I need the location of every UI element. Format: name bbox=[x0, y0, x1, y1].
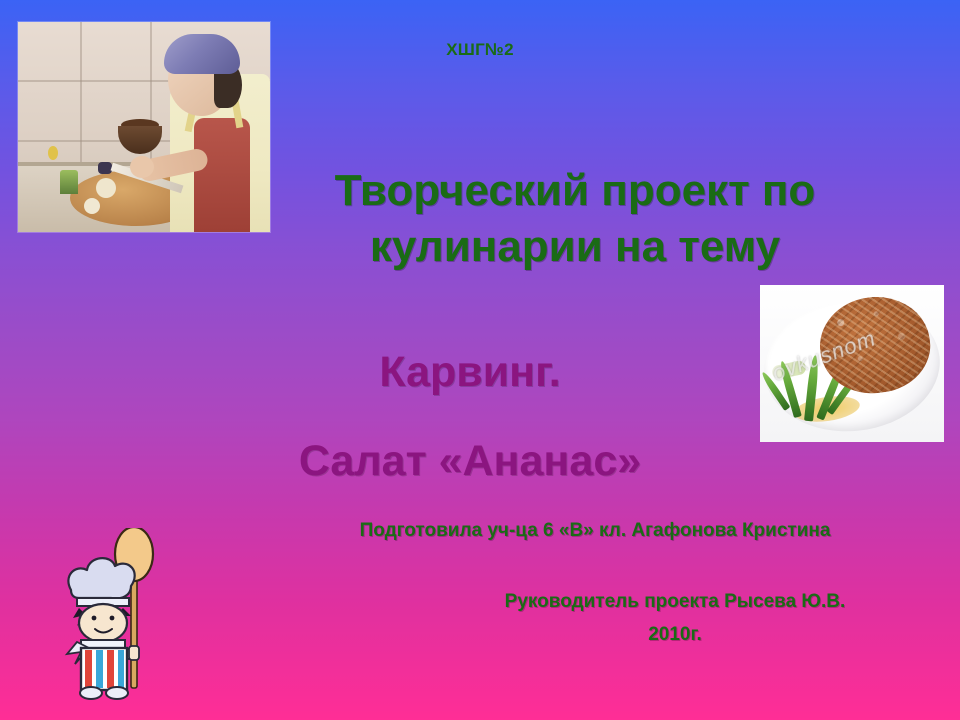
girl-hand bbox=[130, 156, 154, 178]
subtitle-salad-name: Салат «Ананас» bbox=[170, 437, 770, 486]
credit-supervisor: Руководитель проекта Рысева Ю.В. bbox=[400, 591, 950, 613]
subtitle-carving: Карвинг. bbox=[170, 348, 770, 397]
pineapple-salad-photo: ovkusnom bbox=[760, 285, 944, 442]
carved-vegetable bbox=[84, 198, 100, 214]
dark-vegetable bbox=[98, 162, 112, 174]
presentation-slide: ХШГ№2 Творческий проект по кулинарии на … bbox=[0, 0, 960, 720]
carved-vegetable bbox=[96, 178, 116, 198]
credit-author: Подготовила уч-ца 6 «В» кл. Агафонова Кр… bbox=[250, 520, 940, 542]
page-title-line-1: Творческий проект по bbox=[235, 163, 915, 219]
page-title: Творческий проект по кулинарии на тему bbox=[235, 163, 915, 276]
page-title-line-2: кулинарии на тему bbox=[235, 219, 915, 275]
vegetable-garnish bbox=[48, 146, 58, 160]
school-label: ХШГ№2 bbox=[0, 40, 960, 60]
credit-year: 2010г. bbox=[400, 624, 950, 646]
cartoon-chef-clipart bbox=[55, 528, 180, 700]
green-onion-garnish bbox=[60, 170, 78, 194]
